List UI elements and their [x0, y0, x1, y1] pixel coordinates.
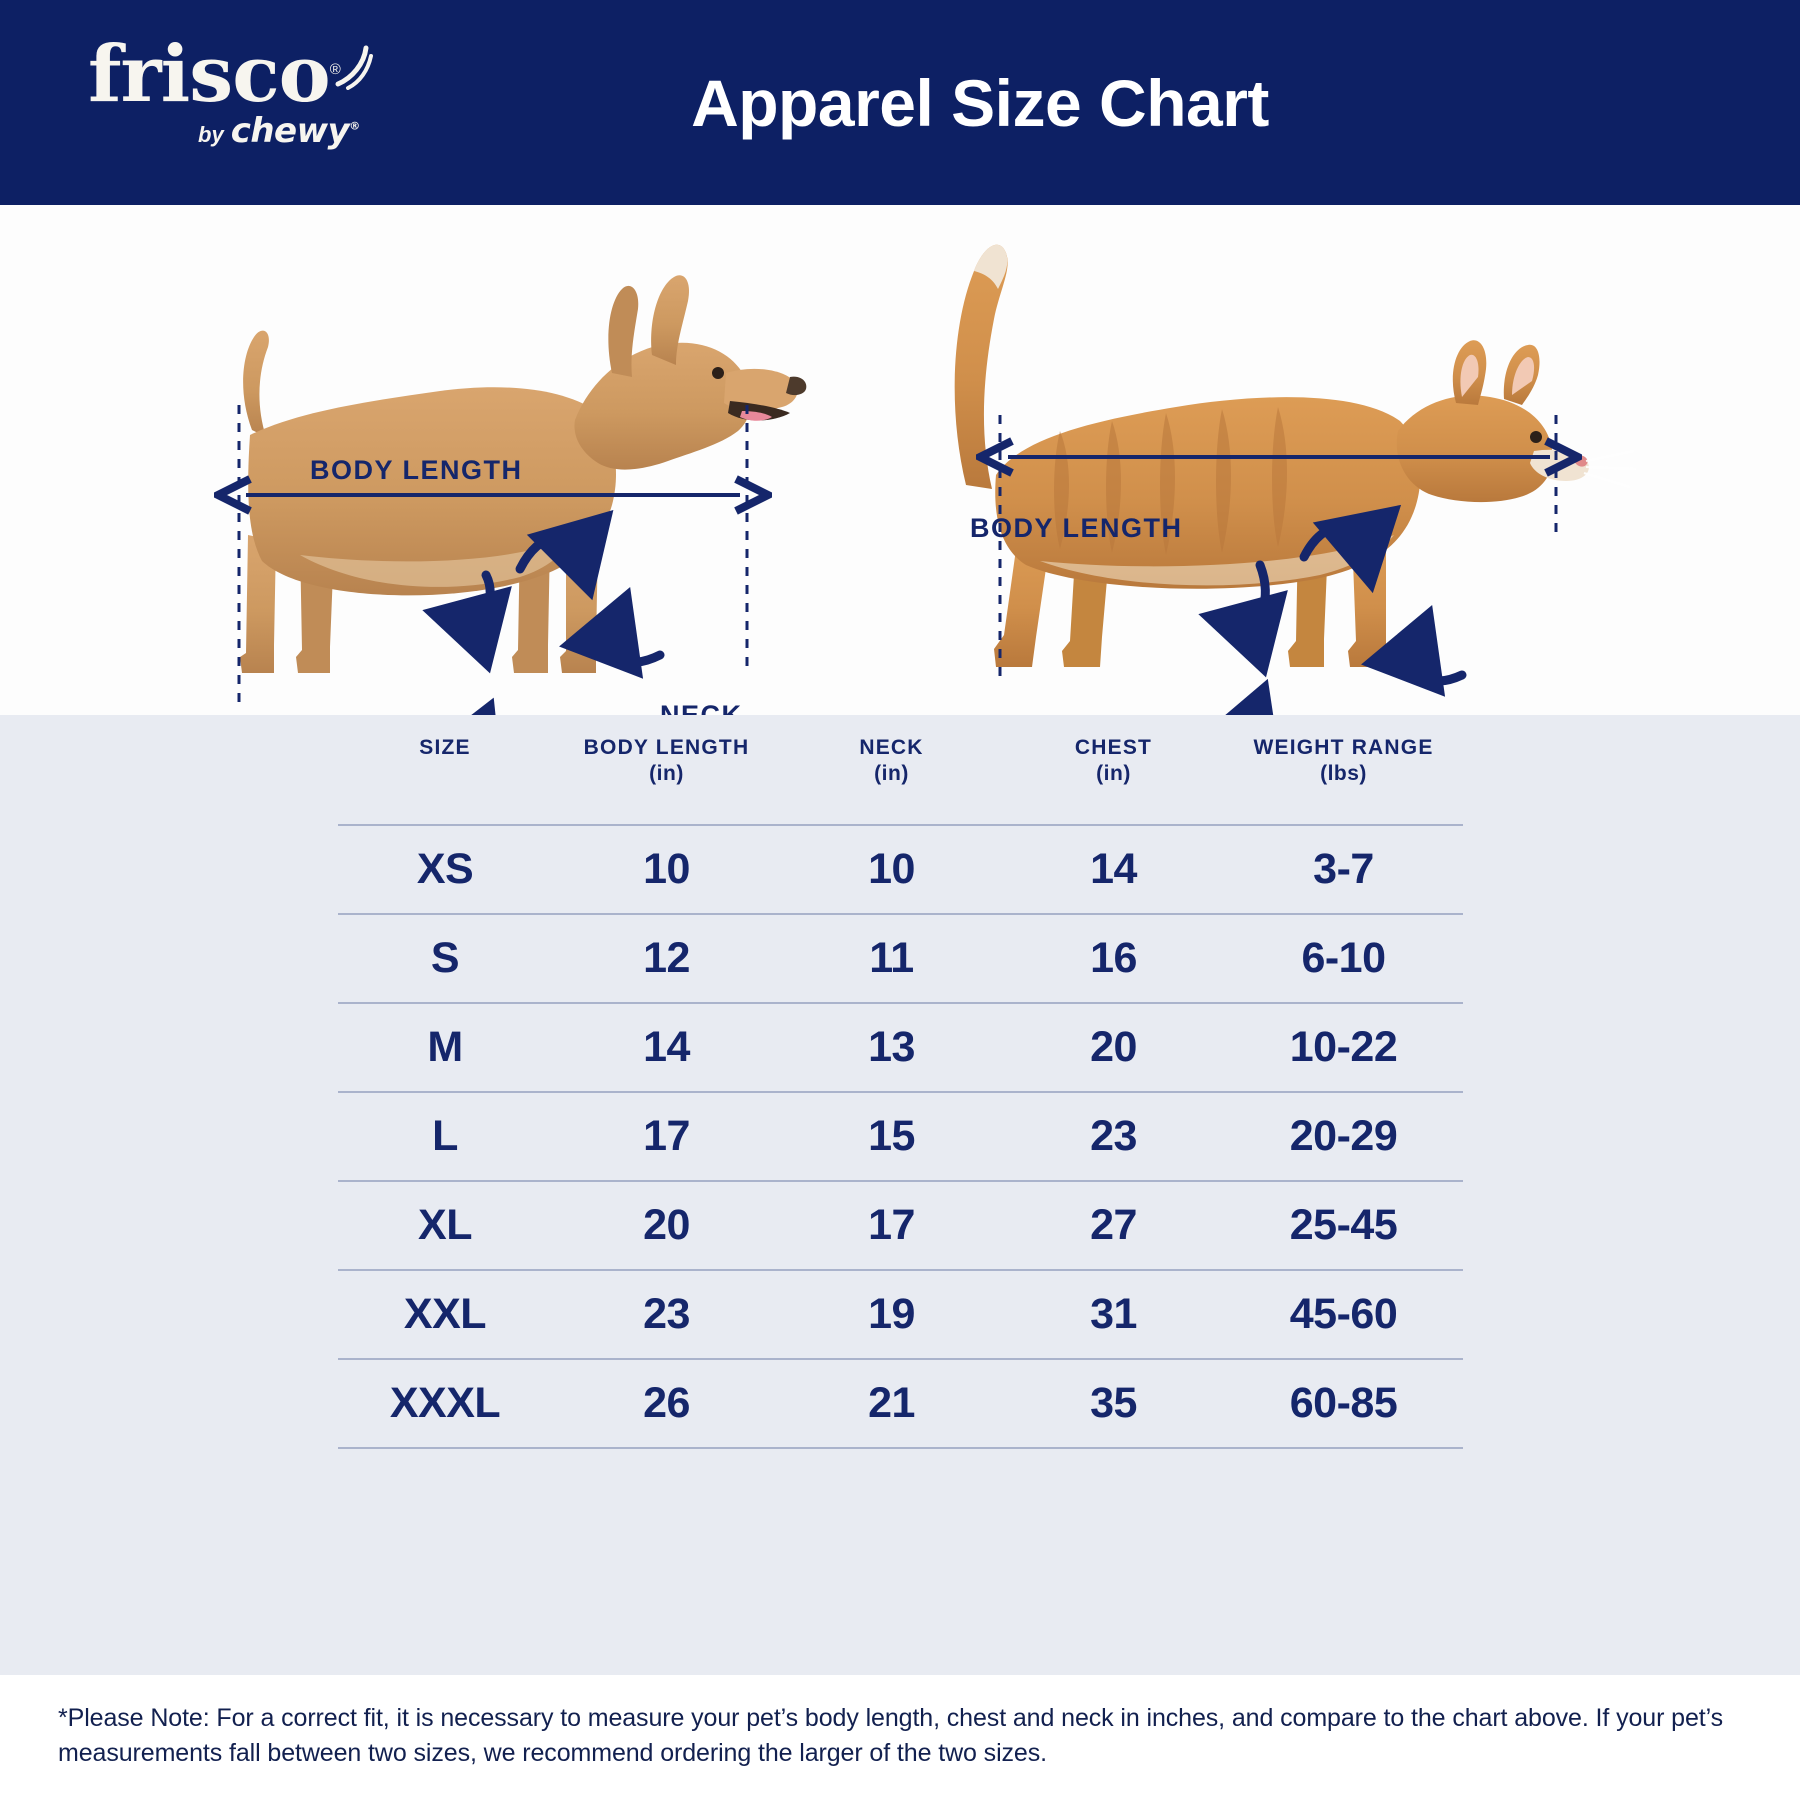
table-row: S 12 11 16 6-10 — [338, 914, 1463, 1003]
cell-size: XS — [338, 825, 553, 914]
column-header-size-label: SIZE — [419, 736, 470, 759]
cat-diagram — [900, 205, 1800, 715]
cell-body-length: 20 — [553, 1181, 781, 1270]
cell-size: XL — [338, 1181, 553, 1270]
cell-weight-range: 10-22 — [1225, 1003, 1463, 1092]
table-row: XS 10 10 14 3-7 — [338, 825, 1463, 914]
column-header-weight-range-label: WEIGHT RANGE — [1253, 736, 1433, 759]
cell-body-length: 23 — [553, 1270, 781, 1359]
size-table-section: SIZE BODY LENGTH (in) NECK (in) CHEST (i… — [0, 715, 1800, 1675]
column-header-chest: CHEST (in) — [1003, 715, 1225, 825]
column-header-neck: NECK (in) — [781, 715, 1003, 825]
table-header-row: SIZE BODY LENGTH (in) NECK (in) CHEST (i… — [338, 715, 1463, 825]
size-chart-page: frisco® by chewy® Apparel Size Chart — [0, 0, 1800, 1800]
cell-size: XXXL — [338, 1359, 553, 1448]
dog-body-length-label: BODY LENGTH — [310, 455, 523, 486]
page-title: Apparel Size Chart — [0, 65, 1800, 141]
table-row: XXXL 26 21 35 60-85 — [338, 1359, 1463, 1448]
cell-neck: 10 — [781, 825, 1003, 914]
cell-size: XXL — [338, 1270, 553, 1359]
cell-chest: 35 — [1003, 1359, 1225, 1448]
cat-illustration-panel: BODY LENGTH NECK CHEST — [900, 205, 1800, 715]
cell-weight-range: 45-60 — [1225, 1270, 1463, 1359]
cell-chest: 31 — [1003, 1270, 1225, 1359]
measurement-illustrations: BODY LENGTH NECK CHEST — [0, 205, 1800, 715]
cell-body-length: 10 — [553, 825, 781, 914]
column-header-chest-unit: (in) — [1003, 761, 1225, 787]
table-body: XS 10 10 14 3-7 S 12 11 16 6-10 M 14 13 — [338, 825, 1463, 1448]
cell-size: M — [338, 1003, 553, 1092]
table-row: L 17 15 23 20-29 — [338, 1092, 1463, 1181]
column-header-body-length-label: BODY LENGTH — [584, 736, 750, 759]
column-header-body-length: BODY LENGTH (in) — [553, 715, 781, 825]
cell-body-length: 12 — [553, 914, 781, 1003]
cell-chest: 20 — [1003, 1003, 1225, 1092]
cell-body-length: 17 — [553, 1092, 781, 1181]
cell-weight-range: 60-85 — [1225, 1359, 1463, 1448]
footnote-text: *Please Note: For a correct fit, it is n… — [0, 1675, 1800, 1800]
cell-chest: 14 — [1003, 825, 1225, 914]
cell-neck: 13 — [781, 1003, 1003, 1092]
cell-weight-range: 3-7 — [1225, 825, 1463, 914]
column-header-body-length-unit: (in) — [553, 761, 781, 787]
cell-weight-range: 6-10 — [1225, 914, 1463, 1003]
column-header-size: SIZE — [338, 715, 553, 825]
page-header: frisco® by chewy® Apparel Size Chart — [0, 0, 1800, 205]
cell-size: L — [338, 1092, 553, 1181]
table-row: M 14 13 20 10-22 — [338, 1003, 1463, 1092]
cell-neck: 17 — [781, 1181, 1003, 1270]
cell-chest: 23 — [1003, 1092, 1225, 1181]
column-header-weight-range: WEIGHT RANGE (lbs) — [1225, 715, 1463, 825]
column-header-neck-unit: (in) — [781, 761, 1003, 787]
dog-chest-arrows — [466, 575, 500, 715]
dog-illustration-panel: BODY LENGTH NECK CHEST — [0, 205, 900, 715]
cell-weight-range: 20-29 — [1225, 1092, 1463, 1181]
column-header-weight-range-unit: (lbs) — [1225, 761, 1463, 787]
cat-chest-arrows — [1242, 565, 1276, 715]
cell-neck: 21 — [781, 1359, 1003, 1448]
cell-body-length: 26 — [553, 1359, 781, 1448]
cell-neck: 15 — [781, 1092, 1003, 1181]
cell-neck: 19 — [781, 1270, 1003, 1359]
apparel-size-table: SIZE BODY LENGTH (in) NECK (in) CHEST (i… — [338, 715, 1463, 1449]
cell-neck: 11 — [781, 914, 1003, 1003]
cell-chest: 27 — [1003, 1181, 1225, 1270]
table-row: XL 20 17 27 25-45 — [338, 1181, 1463, 1270]
cell-body-length: 14 — [553, 1003, 781, 1092]
table-row: XXL 23 19 31 45-60 — [338, 1270, 1463, 1359]
cat-body-length-label: BODY LENGTH — [970, 513, 1183, 544]
cell-chest: 16 — [1003, 914, 1225, 1003]
column-header-neck-label: NECK — [859, 736, 923, 759]
cell-weight-range: 25-45 — [1225, 1181, 1463, 1270]
cell-size: S — [338, 914, 553, 1003]
column-header-chest-label: CHEST — [1075, 736, 1152, 759]
